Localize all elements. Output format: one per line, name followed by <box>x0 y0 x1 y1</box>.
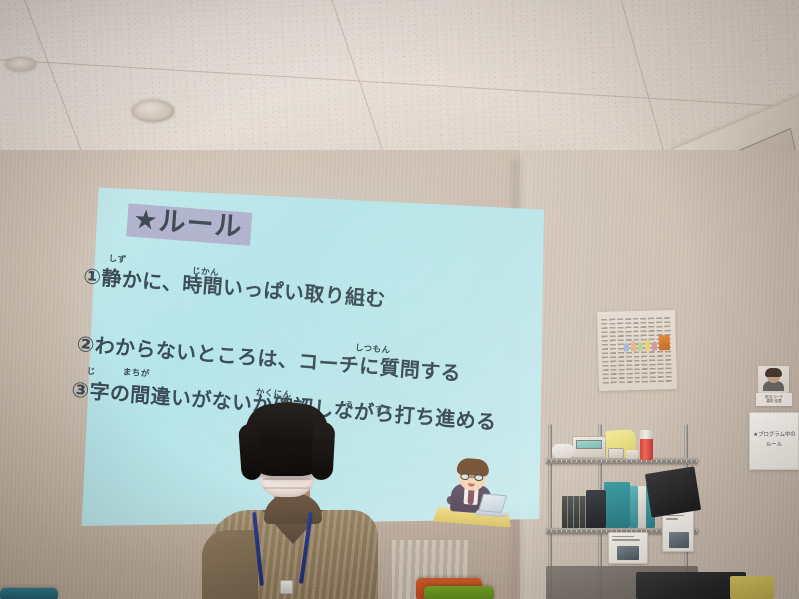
poster-figures <box>624 334 670 351</box>
poster-column <box>633 318 641 385</box>
poster-figure <box>659 335 670 350</box>
poster-figure <box>645 340 650 351</box>
whiteboard-line-2: ルール <box>750 440 798 448</box>
green-chair <box>424 586 494 599</box>
sign-line <box>666 515 684 516</box>
person-foreground <box>196 402 386 599</box>
teal-chair <box>0 588 58 599</box>
instruction-sign <box>608 532 648 564</box>
printer-display <box>576 440 602 449</box>
poster-column <box>648 318 656 385</box>
red-bottle <box>640 438 653 460</box>
staff-name-card: 担当コーチ 森田 佳恵 <box>756 393 792 406</box>
sign-image <box>617 546 639 560</box>
poster-figure <box>638 342 643 351</box>
poster-figure <box>652 341 657 350</box>
mask-fold <box>263 487 311 489</box>
poster-column <box>664 317 672 384</box>
poster-text-columns <box>601 317 672 386</box>
sign-line <box>612 539 640 540</box>
whiteboard-line-1: ★プログラム中の <box>753 430 796 438</box>
rules-whiteboard: ★プログラム中の ルール <box>749 412 799 470</box>
small-box <box>608 448 624 459</box>
name-card-name: 森田 佳恵 <box>756 399 792 403</box>
ceiling-speaker-icon <box>132 100 174 122</box>
person-hair-side-left <box>238 423 262 480</box>
photo-scene: ★ルール しず じかん と く ①静かに、時間いっぱい取り組む しつもん ②わか… <box>0 0 799 599</box>
teal-binder <box>630 486 638 528</box>
sign-line <box>612 536 634 537</box>
teal-binder <box>604 482 630 528</box>
downlight-icon <box>6 58 36 71</box>
poster-figure <box>624 343 629 351</box>
person-turtleneck <box>264 494 322 524</box>
yellow-mat <box>730 576 774 599</box>
mask-fold <box>263 478 311 480</box>
person-left-shoulder <box>202 530 258 599</box>
poster-column <box>601 319 609 386</box>
wall-corner-shadow <box>512 160 530 599</box>
wall-poster <box>597 310 677 391</box>
bottle-cap <box>640 430 653 439</box>
printer-device <box>572 436 606 458</box>
white-object <box>552 444 574 458</box>
poster-figure <box>631 341 636 351</box>
poster-column <box>609 319 617 386</box>
staff-photo <box>758 366 789 395</box>
id-badge <box>280 580 293 594</box>
dark-folder <box>586 490 606 528</box>
sign-text-lines <box>612 536 644 541</box>
photo-hair <box>765 368 782 377</box>
poster-column <box>617 318 625 385</box>
small-carton <box>626 450 638 459</box>
poster-column <box>625 318 633 385</box>
person-hair-side-right <box>310 421 335 480</box>
white-binder <box>638 486 646 528</box>
poster-column <box>656 317 664 384</box>
poster-column <box>641 318 649 385</box>
sign-image <box>669 532 689 548</box>
dark-equipment <box>645 466 701 517</box>
sign-line <box>666 518 678 519</box>
